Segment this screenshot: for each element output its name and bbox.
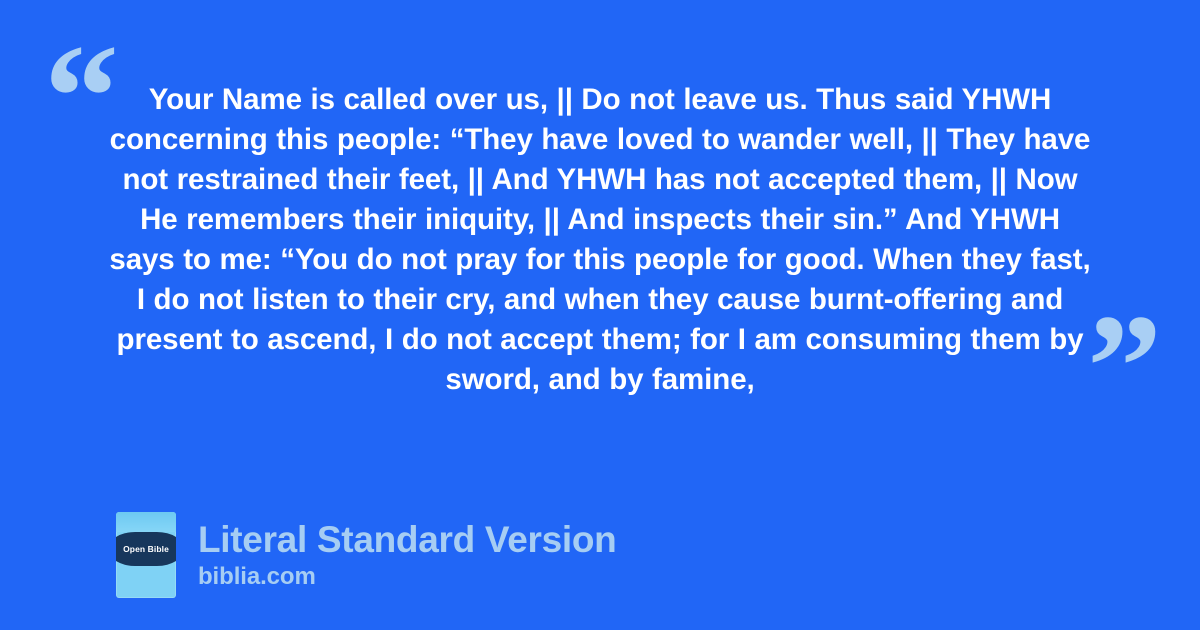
footer-attribution: Open Bible Literal Standard Version bibl… (116, 512, 616, 598)
quote-text: Your Name is called over us, || Do not l… (108, 80, 1092, 400)
quote-block: Your Name is called over us, || Do not l… (108, 80, 1092, 400)
logo-band: Open Bible (116, 532, 176, 566)
logo-band-label: Open Bible (123, 544, 169, 554)
quote-card: “ Your Name is called over us, || Do not… (0, 0, 1200, 630)
bible-edition-title: Literal Standard Version (198, 519, 616, 561)
site-url-label: biblia.com (198, 563, 616, 591)
logo-sheen (116, 512, 176, 532)
closing-quote-mark-icon: ” (1087, 292, 1162, 442)
open-bible-book-icon: Open Bible (116, 512, 176, 598)
footer-text-group: Literal Standard Version biblia.com (198, 519, 616, 591)
